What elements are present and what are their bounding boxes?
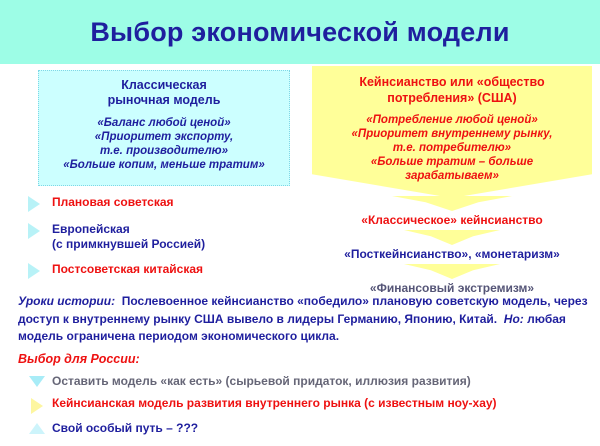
- choice-item-label-3: Свой особый путь – ???: [52, 421, 198, 436]
- bullet-slot: [22, 423, 52, 434]
- classic-quote-3: т.е. производителю»: [39, 144, 289, 158]
- list-item: Свой особый путь – ???: [22, 421, 592, 436]
- choice-item-label-2: Кейнсианская модель развития внутреннего…: [52, 396, 497, 411]
- arrow-down-icon: [404, 230, 500, 245]
- keynes-quote-4: «Больше тратим – больше: [312, 155, 592, 169]
- bullet-slot: [22, 376, 52, 387]
- keynes-quote-3: т.е. потребителю»: [312, 141, 592, 155]
- triangle-right-yellow-icon: [31, 398, 43, 414]
- slide-title: Выбор экономической модели: [90, 17, 509, 48]
- classic-heading-line-1: Классическая: [39, 78, 289, 93]
- classic-quote-2: «Приоритет экспорту,: [39, 130, 289, 144]
- history-but-label: Но:: [504, 312, 524, 326]
- history-lead-label: Уроки истории:: [18, 294, 115, 308]
- classic-quote-1: «Баланс любой ценой»: [39, 116, 289, 130]
- arrow-down-icon: [404, 264, 500, 279]
- classic-heading-line-2: рыночная модель: [39, 93, 289, 108]
- list-item: Плановая советская: [28, 195, 303, 212]
- choice-section-heading: Выбор для России:: [18, 352, 140, 366]
- triangle-right-cyan-icon: [28, 263, 40, 279]
- classic-box-quotes: «Баланс любой ценой» «Приоритет экспорту…: [39, 116, 289, 172]
- keynes-heading-line-2: потребления» (США): [312, 90, 592, 106]
- triangle-down-cyan-icon: [29, 376, 45, 387]
- triangle-up-cyan-icon: [29, 423, 45, 434]
- list-item: Оставить модель «как есть» (сырьевой при…: [22, 374, 592, 389]
- list-item: Постсоветская китайская: [28, 262, 303, 279]
- chain-item-label-2: «Посткейнсианство», «монетаризм»: [306, 247, 598, 262]
- left-item-label-2-wrapper: Европейская (с примкнувшей Россией): [52, 222, 205, 252]
- triangle-right-cyan-icon: [28, 196, 40, 212]
- left-model-list: Плановая советская Европейская (с примкн…: [28, 195, 303, 289]
- left-item-label-2b: (с примкнувшей Россией): [52, 237, 205, 251]
- classic-box-heading: Классическая рыночная модель: [39, 78, 289, 108]
- keynes-quote-2: «Приоритет внутреннему рынку,: [312, 127, 592, 141]
- left-item-label-2a: Европейская: [52, 222, 130, 236]
- keynesian-evolution-chain: «Классическое» кейнсианство «Посткейнсиа…: [306, 200, 598, 296]
- title-band: Выбор экономической модели: [0, 0, 600, 64]
- chain-item-label-1: «Классическое» кейнсианство: [306, 213, 598, 228]
- list-item: Европейская (с примкнувшей Россией): [28, 222, 303, 252]
- list-item: Кейнсианская модель развития внутреннего…: [22, 396, 592, 414]
- classic-quote-4: «Больше копим, меньше тратим»: [39, 158, 289, 172]
- classic-market-model-box: Классическая рыночная модель «Баланс люб…: [38, 70, 290, 186]
- choice-options-list: Оставить модель «как есть» (сырьевой при…: [22, 374, 592, 443]
- keynes-quote-5: зарабатываем»: [312, 169, 592, 183]
- keynes-box-quotes: «Потребление любой ценой» «Приоритет вну…: [312, 113, 592, 183]
- history-lessons-paragraph: Уроки истории: Послевоенное кейнсианство…: [18, 293, 588, 346]
- left-item-label-3: Постсоветская китайская: [52, 262, 203, 277]
- left-item-label-1: Плановая советская: [52, 195, 174, 210]
- bullet-slot: [22, 398, 52, 414]
- keynes-heading-line-1: Кейнсианство или «общество: [312, 74, 592, 90]
- triangle-right-cyan-icon: [28, 223, 40, 239]
- keynes-box-heading: Кейнсианство или «общество потребления» …: [312, 74, 592, 106]
- keynes-quote-1: «Потребление любой ценой»: [312, 113, 592, 127]
- keynesianism-box: Кейнсианство или «общество потребления» …: [312, 66, 592, 198]
- arrow-down-icon: [392, 196, 512, 211]
- choice-item-label-1: Оставить модель «как есть» (сырьевой при…: [52, 374, 471, 389]
